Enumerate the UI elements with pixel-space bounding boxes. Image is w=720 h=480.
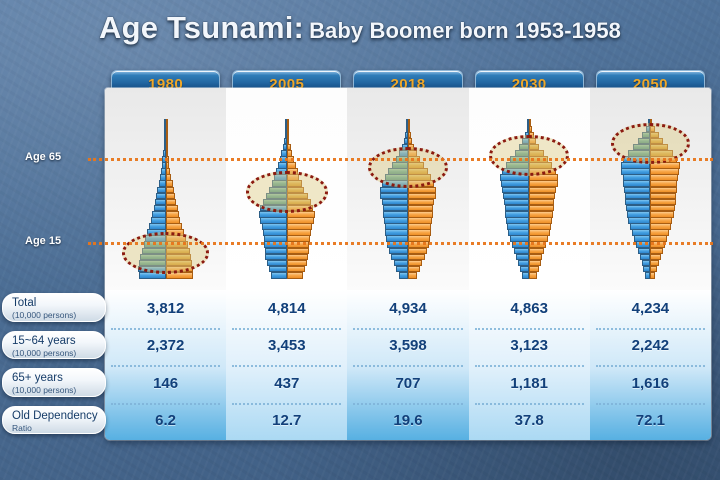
row-separator	[232, 403, 341, 405]
row-separator	[596, 328, 705, 330]
guide-label-age-15: Age 15	[25, 235, 61, 247]
title-main: Age Tsunami:	[99, 10, 304, 45]
table-cell: 3,598	[347, 337, 468, 354]
guide-label-age-65: Age 65	[25, 151, 61, 163]
row-separator	[111, 365, 220, 367]
row-label-4[interactable]: Old DependencyRatio	[2, 406, 106, 435]
pyramid-bar-female	[650, 272, 655, 279]
row-separator	[232, 365, 341, 367]
row-label-main: Old Dependency	[12, 410, 100, 423]
row-separator	[596, 403, 705, 405]
row-separator	[111, 403, 220, 405]
row-label-sub: (10,000 persons)	[12, 385, 100, 395]
guide-line-age-15	[88, 242, 713, 245]
table-cell: 4,814	[226, 300, 347, 317]
content-panel: 3,8124,8144,9344,8634,2342,3723,4533,598…	[105, 88, 711, 440]
table-cell: 707	[347, 375, 468, 392]
row-label-2[interactable]: 15~64 years(10,000 persons)	[2, 331, 106, 360]
row-separator	[353, 365, 462, 367]
row-separator	[596, 365, 705, 367]
row-label-3[interactable]: 65+ years(10,000 persons)	[2, 368, 106, 397]
table-cell: 146	[105, 375, 226, 392]
table-cell: 37.8	[469, 412, 590, 429]
row-label-sub: (10,000 persons)	[12, 348, 100, 358]
table-cell: 1,181	[469, 375, 590, 392]
row-separator	[111, 328, 220, 330]
table-cell: 4,934	[347, 300, 468, 317]
table-cell: 1,616	[590, 375, 711, 392]
table-cell: 72.1	[590, 412, 711, 429]
table-cell: 6.2	[105, 412, 226, 429]
table-cell: 4,234	[590, 300, 711, 317]
row-separator	[475, 403, 584, 405]
title-sub: Baby Boomer born 1953-1958	[309, 18, 621, 43]
table-cell: 437	[226, 375, 347, 392]
row-label-main: 65+ years	[12, 372, 100, 385]
page-title: Age Tsunami:Baby Boomer born 1953-1958	[0, 10, 720, 46]
table-cell: 3,453	[226, 337, 347, 354]
table-cell: 3,123	[469, 337, 590, 354]
row-separator	[475, 328, 584, 330]
row-label-1[interactable]: Total(10,000 persons)	[2, 293, 106, 322]
table-cell: 4,863	[469, 300, 590, 317]
row-separator	[353, 328, 462, 330]
pyramid-2050	[105, 88, 711, 290]
row-separator	[353, 403, 462, 405]
row-label-sub: (10,000 persons)	[12, 310, 100, 320]
guide-line-age-65	[88, 158, 713, 161]
table-cell: 2,372	[105, 337, 226, 354]
row-label-main: Total	[12, 297, 100, 310]
table-cell: 12.7	[226, 412, 347, 429]
table-cell: 3,812	[105, 300, 226, 317]
table-cell: 2,242	[590, 337, 711, 354]
row-label-main: 15~64 years	[12, 335, 100, 348]
table-cell: 19.6	[347, 412, 468, 429]
row-separator	[475, 365, 584, 367]
row-label-sub: Ratio	[12, 423, 100, 433]
row-separator	[232, 328, 341, 330]
